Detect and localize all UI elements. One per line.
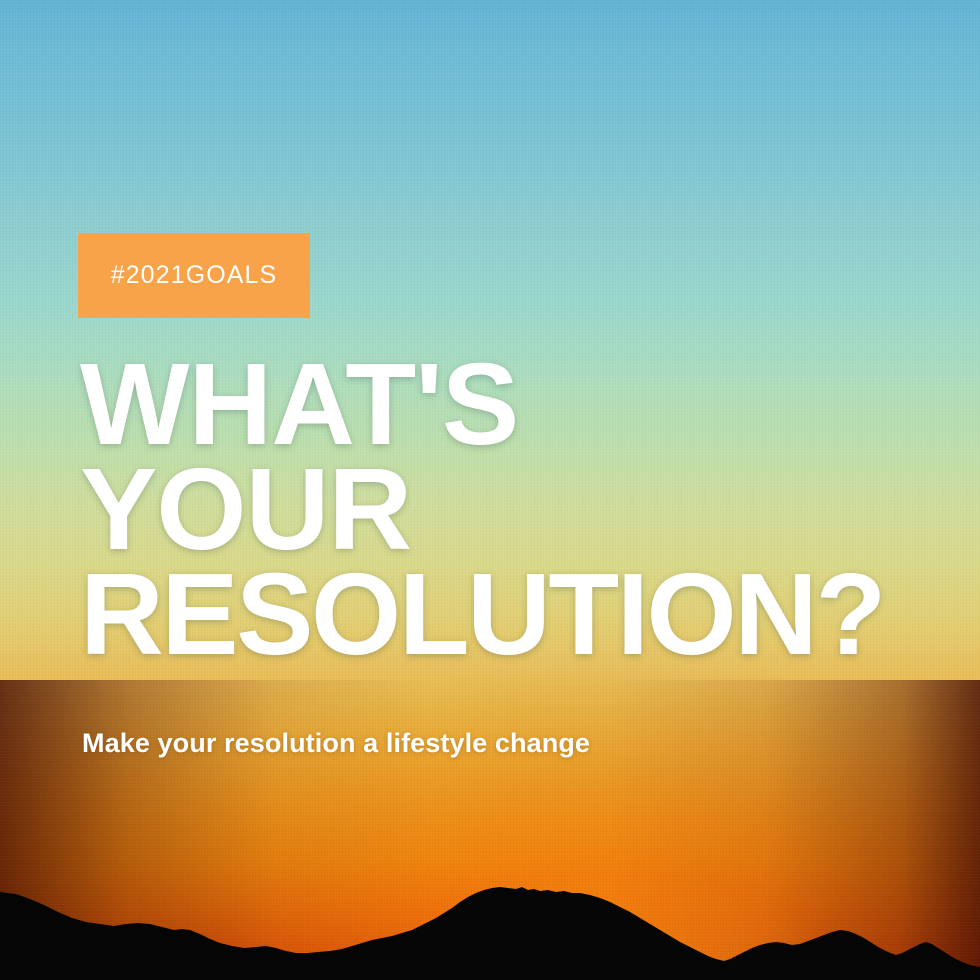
hashtag-badge: #2021GOALS (78, 233, 310, 318)
page-title: WHAT'S YOUR RESOLUTION? (80, 352, 884, 667)
subtitle-text: Make your resolution a lifestyle change (82, 726, 590, 760)
poster-canvas: #2021GOALS WHAT'S YOUR RESOLUTION? Make … (0, 0, 980, 980)
headline-line-1: WHAT'S (80, 352, 884, 457)
poster-content: #2021GOALS WHAT'S YOUR RESOLUTION? Make … (78, 0, 938, 980)
headline-line-2: YOUR (80, 457, 884, 562)
hashtag-badge-label: #2021GOALS (111, 263, 278, 288)
headline-line-3: RESOLUTION? (80, 562, 884, 667)
